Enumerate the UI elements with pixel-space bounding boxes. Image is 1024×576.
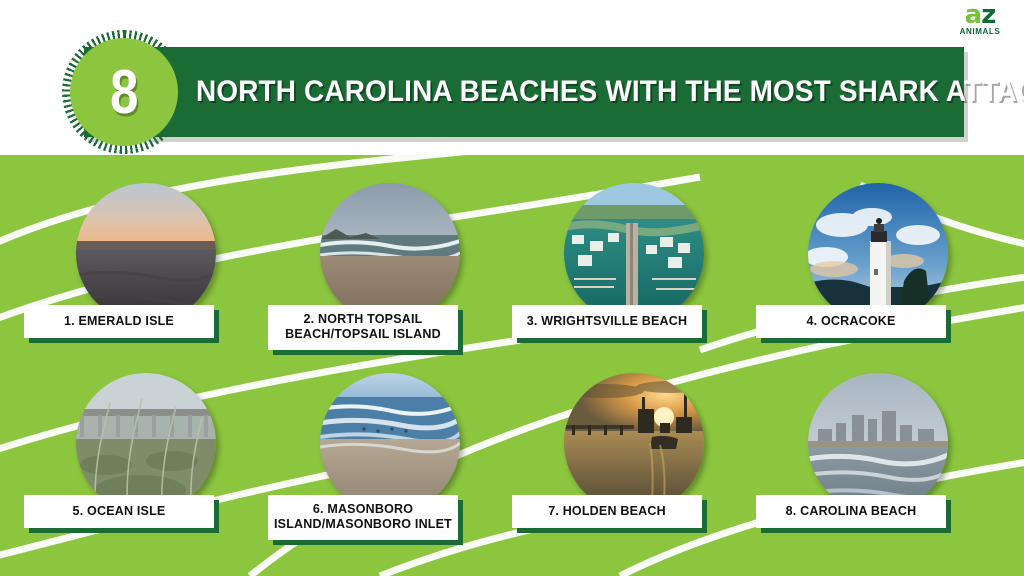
- item-label-line: 2. NORTH TOPSAIL: [274, 312, 452, 327]
- item-label-line: 1. EMERALD ISLE: [30, 314, 208, 329]
- beach-photo-2: [320, 183, 460, 323]
- item-label-6: 6. MASONBORO ISLAND/MASONBORO INLET: [268, 495, 458, 540]
- logo-letter-z: z: [981, 0, 995, 30]
- content-panel: 1. EMERALD ISLE 2. NO: [0, 155, 1024, 576]
- beach-photo-5: [76, 373, 216, 513]
- item-label-line: 7. HOLDEN BEACH: [518, 504, 696, 519]
- beach-photo-8: [808, 373, 948, 513]
- beach-photo-4: [808, 183, 948, 323]
- infographic-page: az ANIMALS NORTH CAROLINA BEACHES WITH T…: [0, 0, 1024, 576]
- rank-count-badge: 8: [62, 30, 186, 154]
- beach-photo-3: [564, 183, 704, 323]
- item-label-8: 8. CAROLINA BEACH: [756, 495, 946, 528]
- item-label-line: BEACH/TOPSAIL ISLAND: [274, 327, 452, 342]
- item-label-line: 5. OCEAN ISLE: [30, 504, 208, 519]
- item-label-4: 4. OCRACOKE: [756, 305, 946, 338]
- beach-photo-1: [76, 183, 216, 323]
- beach-photo-6: [320, 373, 460, 513]
- badge-number: 8: [110, 57, 138, 128]
- item-label-1: 1. EMERALD ISLE: [24, 305, 214, 338]
- item-label-line: 6. MASONBORO: [274, 502, 452, 517]
- item-label-7: 7. HOLDEN BEACH: [512, 495, 702, 528]
- item-label-line: 8. CAROLINA BEACH: [762, 504, 940, 519]
- item-label-3: 3. WRIGHTSVILLE BEACH: [512, 305, 702, 338]
- page-title: NORTH CAROLINA BEACHES WITH THE MOST SHA…: [196, 75, 1024, 109]
- item-label-5: 5. OCEAN ISLE: [24, 495, 214, 528]
- item-label-line: 4. OCRACOKE: [762, 314, 940, 329]
- logo-letter-a: a: [965, 0, 982, 30]
- item-label-line: ISLAND/MASONBORO INLET: [274, 517, 452, 532]
- beach-photo-7: [564, 373, 704, 513]
- item-label-2: 2. NORTH TOPSAIL BEACH/TOPSAIL ISLAND: [268, 305, 458, 350]
- item-label-line: 3. WRIGHTSVILLE BEACH: [518, 314, 696, 329]
- header-bar: NORTH CAROLINA BEACHES WITH THE MOST SHA…: [84, 47, 964, 137]
- header: NORTH CAROLINA BEACHES WITH THE MOST SHA…: [0, 30, 1024, 155]
- logo-mark: az: [965, 4, 996, 26]
